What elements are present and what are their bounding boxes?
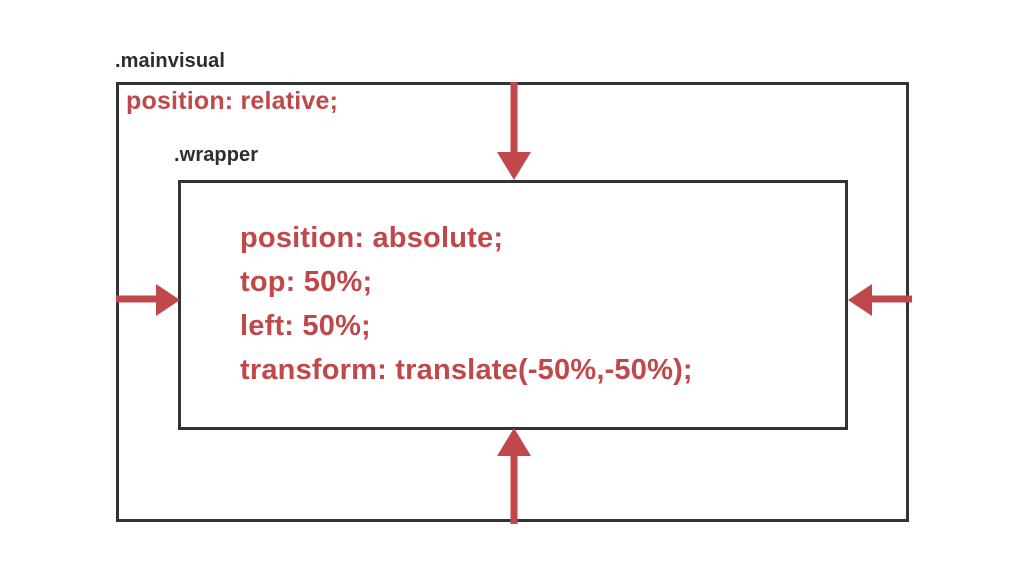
arrow-left-icon: [846, 281, 912, 319]
arrow-down-icon: [490, 82, 538, 182]
code-line-transform: transform: translate(-50%,-50%);: [240, 348, 693, 392]
wrapper-code-block: position: absolute; top: 50%; left: 50%;…: [240, 216, 693, 392]
arrow-up-icon: [490, 428, 538, 524]
mainvisual-code-text: position: relative;: [126, 87, 338, 116]
wrapper-label: .wrapper: [174, 144, 258, 167]
code-line-top: top: 50%;: [240, 260, 693, 304]
mainvisual-label: .mainvisual: [115, 50, 225, 73]
diagram-canvas: .mainvisual position: relative; .wrapper…: [0, 0, 1024, 570]
arrow-right-icon: [116, 281, 182, 319]
code-line-position: position: absolute;: [240, 216, 693, 260]
code-line-left: left: 50%;: [240, 304, 693, 348]
